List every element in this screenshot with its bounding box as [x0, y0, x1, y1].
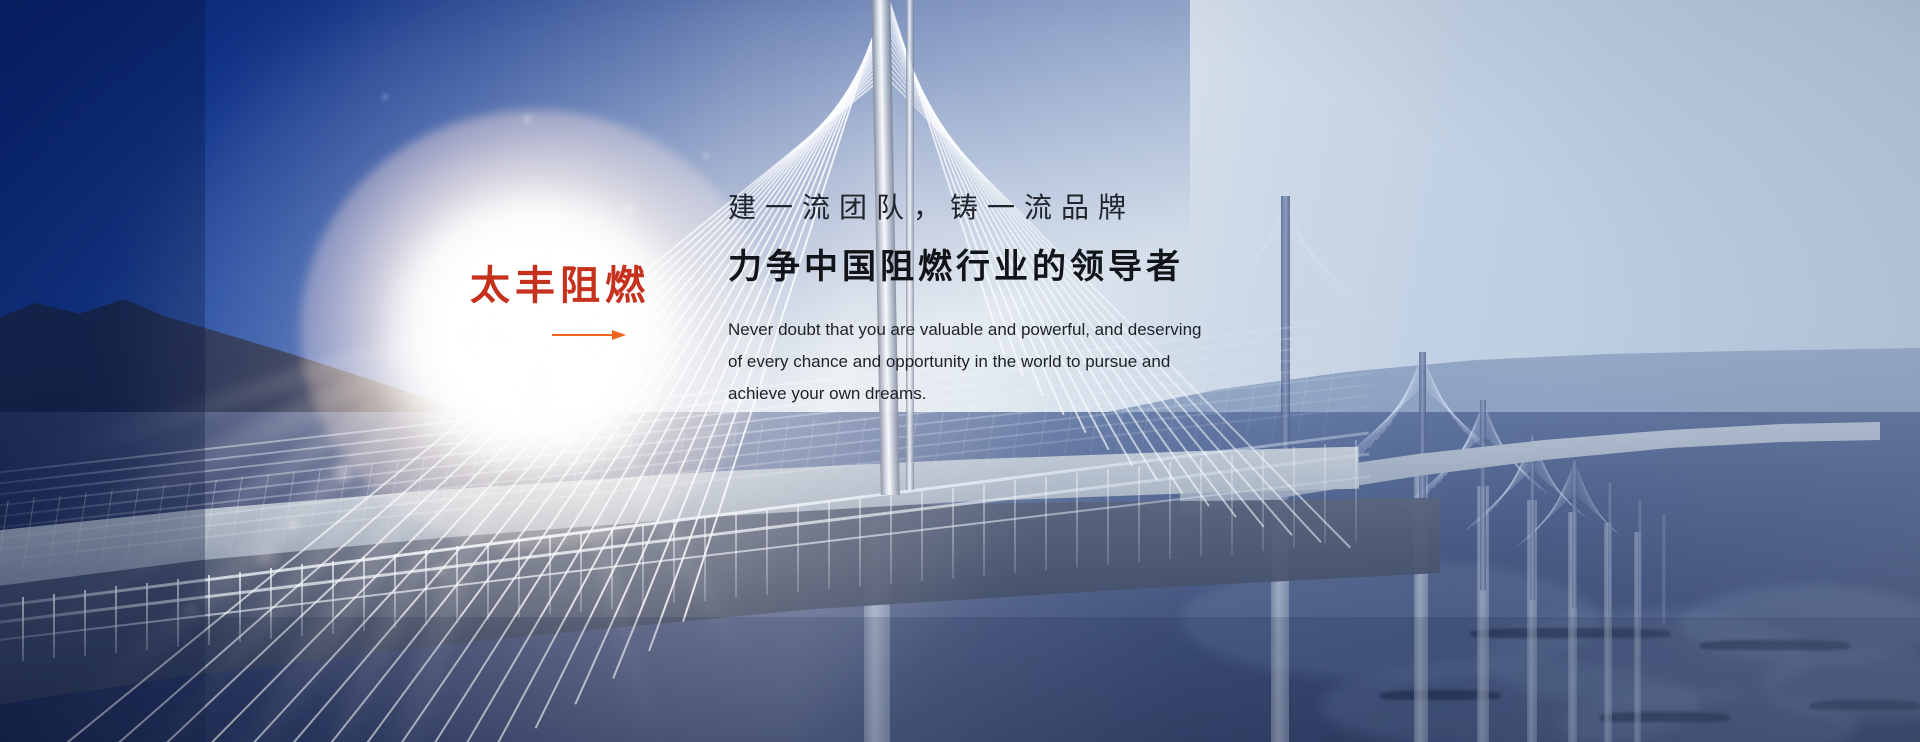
banner-subtext: Never doubt that you are valuable and po…: [728, 314, 1288, 410]
hero-banner: 太丰阻燃 建一流团队，铸一流品牌 力争中国阻燃行业的领导者 Never doub…: [0, 0, 1920, 742]
subtext-line-3: achieve your own dreams.: [728, 378, 1288, 410]
banner-content: 太丰阻燃 建一流团队，铸一流品牌 力争中国阻燃行业的领导者 Never doub…: [0, 0, 1920, 742]
banner-kicker: 建一流团队，铸一流品牌: [728, 190, 1428, 225]
subtext-line-2: of every chance and opportunity in the w…: [728, 346, 1288, 378]
banner-headline: 力争中国阻燃行业的领导者: [728, 247, 1428, 288]
brand-logo[interactable]: 太丰阻燃: [470, 266, 720, 340]
subtext-line-1: Never doubt that you are valuable and po…: [728, 314, 1288, 346]
arrow-head: [612, 330, 626, 340]
brand-logo-text: 太丰阻燃: [470, 266, 720, 306]
arrow-right-icon: [552, 330, 626, 340]
banner-text-block: 建一流团队，铸一流品牌 力争中国阻燃行业的领导者 Never doubt tha…: [728, 190, 1428, 410]
arrow-shaft: [552, 334, 616, 336]
